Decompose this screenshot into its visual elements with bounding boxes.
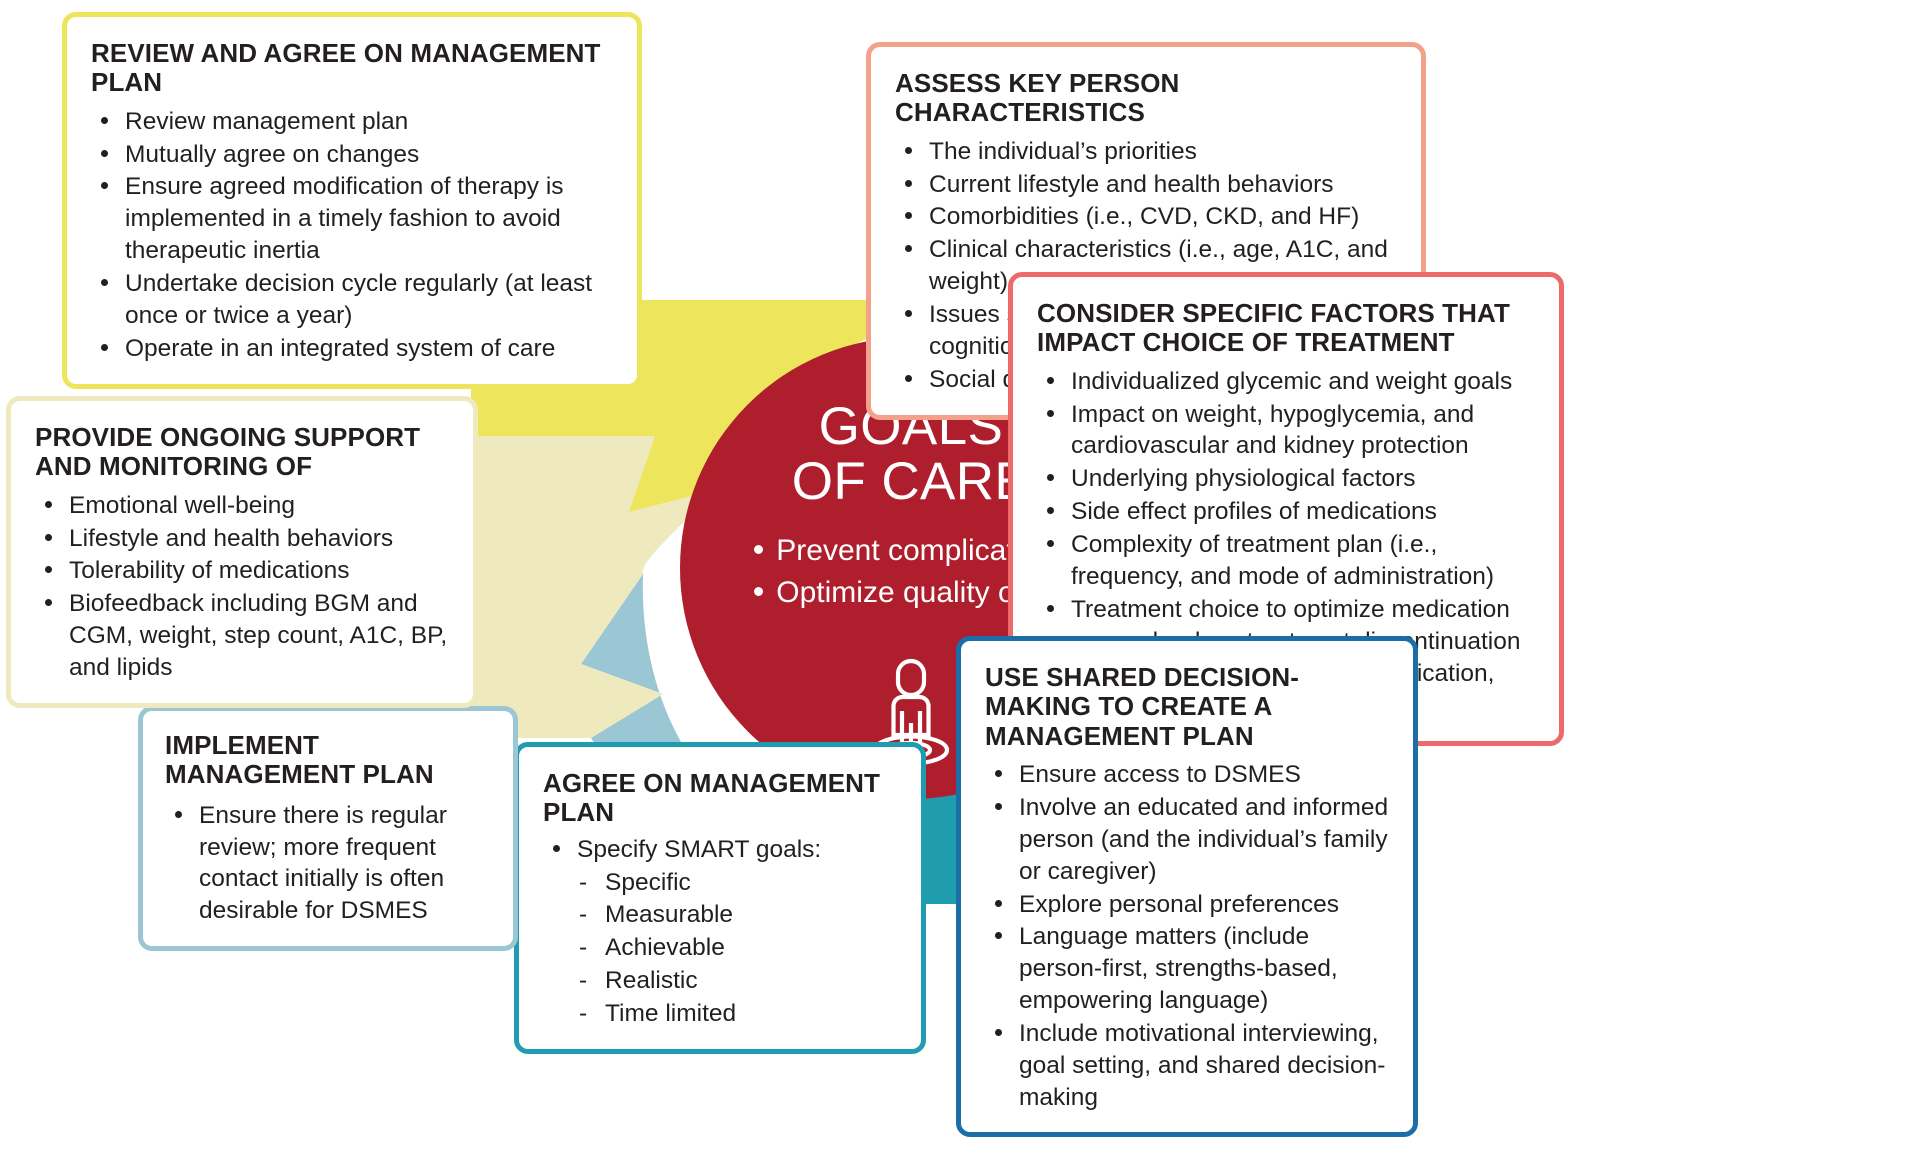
- list-item: Ensure agreed modification of therapy is…: [91, 171, 617, 267]
- sub-list-item: Achievable: [543, 932, 901, 964]
- sub-list-item: Realistic: [543, 965, 901, 997]
- box-title: ASSESS KEY PERSON CHARACTERISTICS: [895, 69, 1401, 128]
- box-bullet-list: Review management plan Mutually agree on…: [91, 106, 617, 365]
- sub-list-item: Measurable: [543, 899, 901, 931]
- list-item: The individual’s priorities: [895, 136, 1401, 168]
- list-item: Underlying physiological factors: [1037, 463, 1539, 495]
- list-item: Language matters (include person-first, …: [985, 921, 1393, 1017]
- box-use-shared-decision-making: USE SHARED DECISION-MAKING TO CREATE A M…: [956, 636, 1418, 1137]
- box-title: AGREE ON MANAGEMENT PLAN: [543, 769, 901, 828]
- sub-list-item: Specific: [543, 867, 901, 899]
- list-item: Lifestyle and health behaviors: [35, 523, 453, 555]
- list-item: Specify SMART goals:: [543, 834, 901, 866]
- box-bullet-list: Emotional well-being Lifestyle and healt…: [35, 490, 453, 684]
- box-title: IMPLEMENT MANAGEMENT PLAN: [165, 731, 495, 790]
- center-title-line2: OF CARE: [792, 454, 1030, 509]
- box-provide-ongoing-support: PROVIDE ONGOING SUPPORT AND MONITORING O…: [6, 396, 478, 708]
- list-item: Complexity of treatment plan (i.e., freq…: [1037, 529, 1539, 593]
- list-item: Operate in an integrated system of care: [91, 333, 617, 365]
- box-agree-on-management-plan: AGREE ON MANAGEMENT PLAN Specify SMART g…: [514, 742, 926, 1054]
- sub-list-item: Time limited: [543, 998, 901, 1030]
- box-implement-management-plan: IMPLEMENT MANAGEMENT PLAN Ensure there i…: [138, 706, 518, 951]
- box-bullet-list: Specify SMART goals:: [543, 834, 901, 866]
- list-item: Current lifestyle and health behaviors: [895, 169, 1401, 201]
- list-item: Ensure there is regular review; more fre…: [165, 800, 495, 927]
- list-item: Involve an educated and informed person …: [985, 792, 1393, 888]
- box-title: USE SHARED DECISION-MAKING TO CREATE A M…: [985, 663, 1393, 751]
- box-bullet-list: Ensure access to DSMES Involve an educat…: [985, 759, 1393, 1113]
- list-item: Review management plan: [91, 106, 617, 138]
- list-item: Individualized glycemic and weight goals: [1037, 366, 1539, 398]
- list-item: Tolerability of medications: [35, 555, 453, 587]
- box-review-and-agree: REVIEW AND AGREE ON MANAGEMENT PLAN Revi…: [62, 12, 642, 389]
- list-item: Mutually agree on changes: [91, 139, 617, 171]
- list-item: Comorbidities (i.e., CVD, CKD, and HF): [895, 201, 1401, 233]
- list-item: Explore personal preferences: [985, 889, 1393, 921]
- box-bullet-list: Ensure there is regular review; more fre…: [165, 800, 495, 927]
- list-item: Biofeedback including BGM and CGM, weigh…: [35, 588, 453, 684]
- list-item: Side effect profiles of medications: [1037, 496, 1539, 528]
- box-title: REVIEW AND AGREE ON MANAGEMENT PLAN: [91, 39, 617, 98]
- list-item: Undertake decision cycle regularly (at l…: [91, 268, 617, 332]
- box-title: CONSIDER SPECIFIC FACTORS THAT IMPACT CH…: [1037, 299, 1539, 358]
- list-item: Include motivational interviewing, goal …: [985, 1018, 1393, 1114]
- diagram-canvas: GOALS OF CARE Prevent complications Opti…: [0, 0, 1920, 1175]
- box-sub-bullet-list: Specific Measurable Achievable Realistic…: [543, 867, 901, 1030]
- list-item: Emotional well-being: [35, 490, 453, 522]
- list-item: Ensure access to DSMES: [985, 759, 1393, 791]
- box-title: PROVIDE ONGOING SUPPORT AND MONITORING O…: [35, 423, 453, 482]
- list-item: Impact on weight, hypoglycemia, and card…: [1037, 399, 1539, 463]
